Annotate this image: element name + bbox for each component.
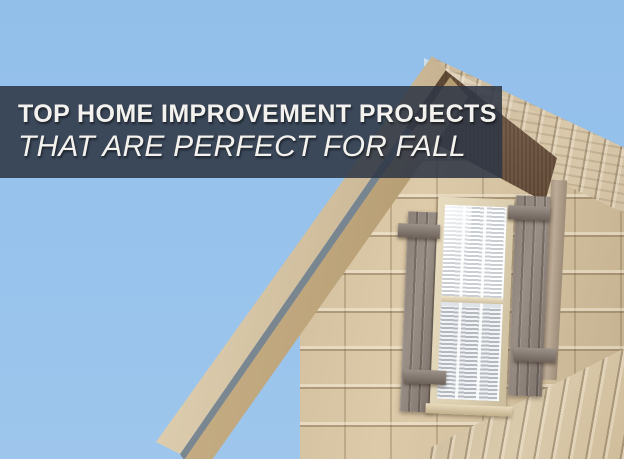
- banner-subheadline: THAT ARE PERFECT FOR FALL: [18, 130, 502, 163]
- window-glass: [437, 205, 507, 401]
- window-glass-glare: [442, 205, 472, 272]
- house-photograph: [0, 0, 624, 459]
- shutter-batten-left-top: [398, 223, 441, 239]
- banner-headline: TOP HOME IMPROVEMENT PROJECTS: [18, 101, 502, 127]
- title-banner: TOP HOME IMPROVEMENT PROJECTS THAT ARE P…: [0, 86, 502, 178]
- image-canvas: TOP HOME IMPROVEMENT PROJECTS THAT ARE P…: [0, 0, 624, 459]
- shutter-batten-right-bottom: [514, 347, 557, 363]
- shutter-batten-right-top: [508, 205, 551, 221]
- shutter-batten-left-bottom: [404, 369, 447, 385]
